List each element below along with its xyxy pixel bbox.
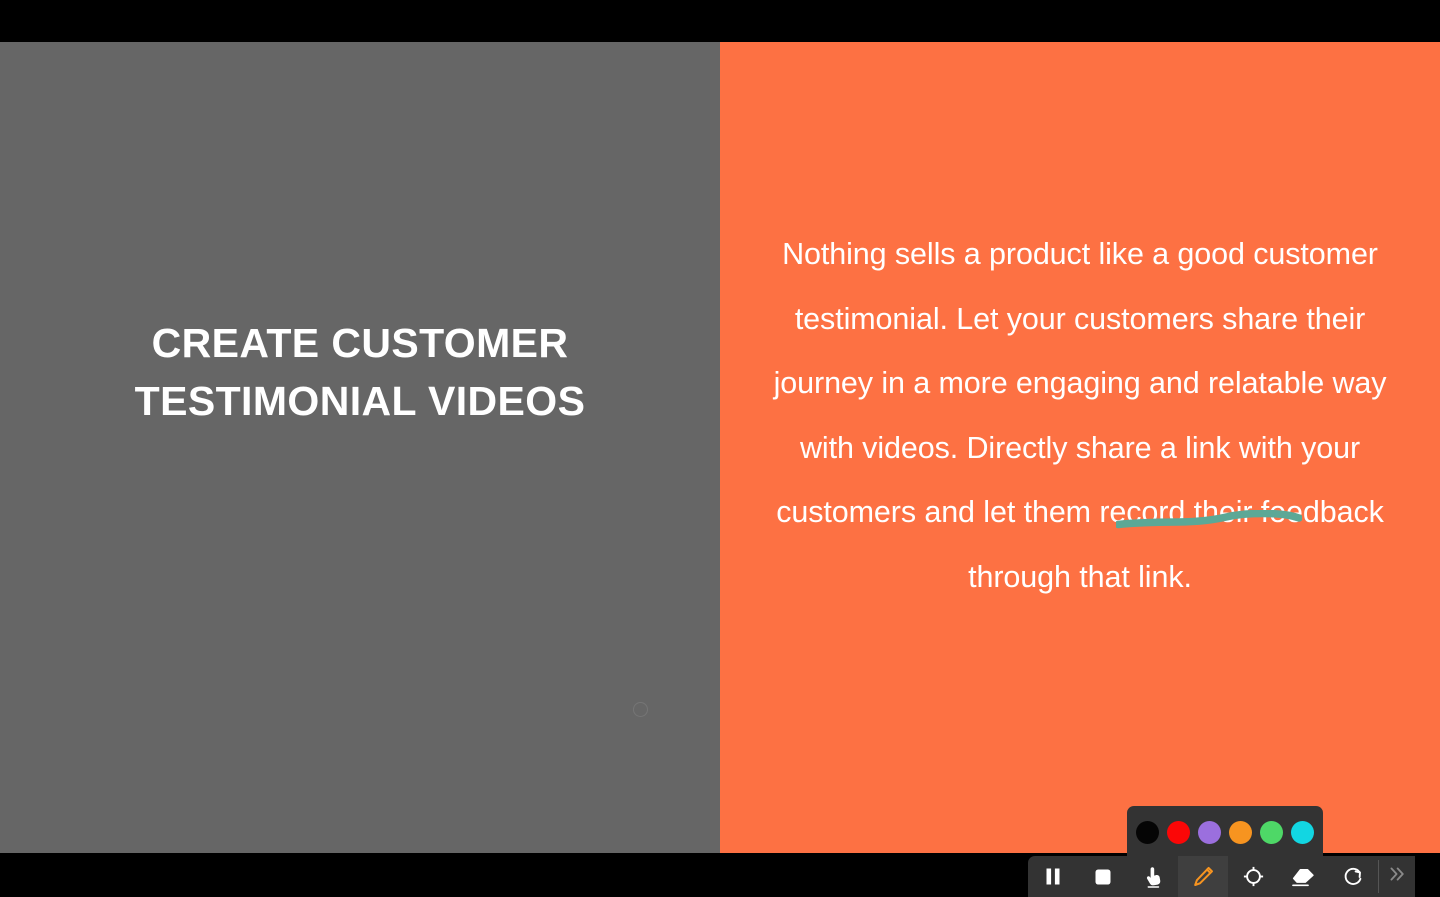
screen-recording-overlay: CREATE CUSTOMER TESTIMONIAL VIDEOS Nothi… [0,0,1440,897]
eraser-button[interactable] [1278,856,1328,897]
undo-arrow-icon [1343,866,1364,887]
presentation-slide: CREATE CUSTOMER TESTIMONIAL VIDEOS Nothi… [0,42,1440,853]
slide-right-panel: Nothing sells a product like a good cust… [720,42,1440,853]
slide-body-text-container: Nothing sells a product like a good cust… [760,222,1400,609]
pencil-icon [1193,866,1214,887]
eraser-icon [1292,867,1315,887]
color-swatch-cyan[interactable] [1291,821,1314,844]
color-swatch-black[interactable] [1136,821,1159,844]
chevron-double-right-icon [1387,865,1407,888]
pause-icon [1044,867,1062,886]
pause-button[interactable] [1028,856,1078,897]
pointer-button[interactable] [1128,856,1178,897]
slide-heading: CREATE CUSTOMER TESTIMONIAL VIDEOS [60,314,660,430]
slide-left-panel: CREATE CUSTOMER TESTIMONIAL VIDEOS [0,42,720,853]
color-swatch-red[interactable] [1167,821,1190,844]
expand-button[interactable] [1379,856,1415,897]
cursor-ring-icon [633,702,648,717]
toolbar-tool-group [1028,856,1378,897]
stop-button[interactable] [1078,856,1128,897]
stop-icon [1094,868,1112,886]
pencil-button[interactable] [1178,856,1228,897]
color-palette-panel[interactable] [1127,806,1323,858]
color-swatch-orange[interactable] [1229,821,1252,844]
color-swatch-purple[interactable] [1198,821,1221,844]
undo-button[interactable] [1328,856,1378,897]
color-swatch-green[interactable] [1260,821,1283,844]
crosshair-target-icon [1243,866,1264,887]
spotlight-button[interactable] [1228,856,1278,897]
pointer-hand-icon [1143,866,1163,888]
recorder-toolbar [1028,856,1415,897]
slide-body-text: Nothing sells a product like a good cust… [774,237,1387,594]
